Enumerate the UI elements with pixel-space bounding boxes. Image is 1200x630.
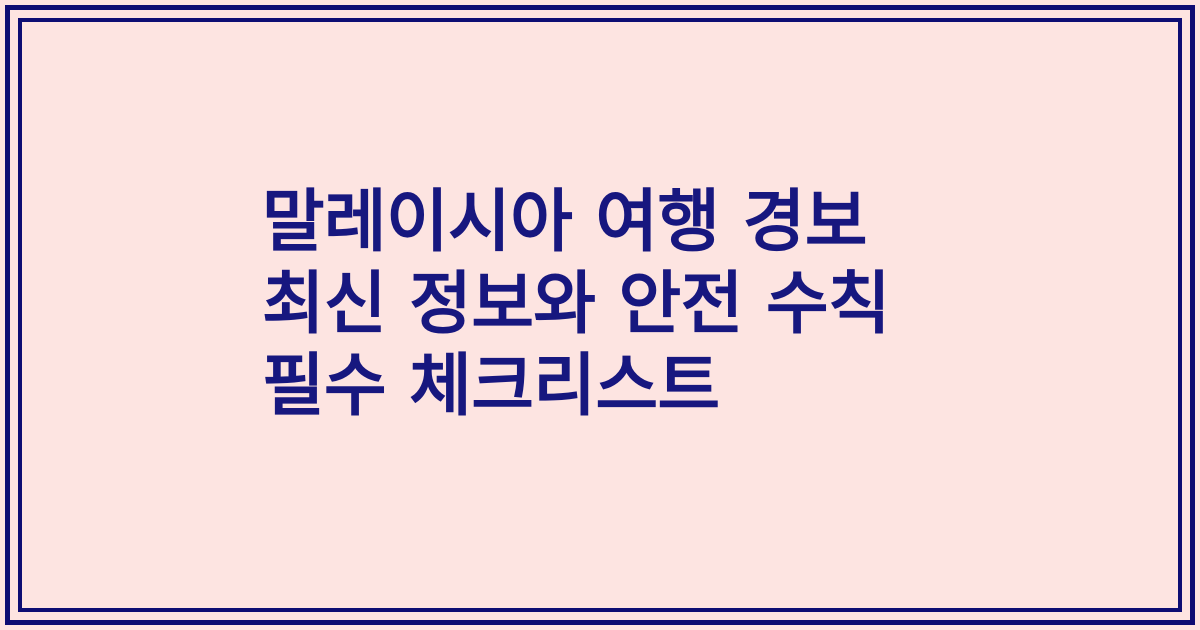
headline-line-2: 최신 정보와 안전 수칙 (262, 264, 1140, 346)
headline-block: 말레이시아 여행 경보 최신 정보와 안전 수칙 필수 체크리스트 (262, 182, 1140, 428)
headline-line-1: 말레이시아 여행 경보 (262, 182, 1140, 264)
headline-line-3: 필수 체크리스트 (262, 346, 1140, 428)
title-card: 말레이시아 여행 경보 최신 정보와 안전 수칙 필수 체크리스트 (0, 0, 1200, 630)
